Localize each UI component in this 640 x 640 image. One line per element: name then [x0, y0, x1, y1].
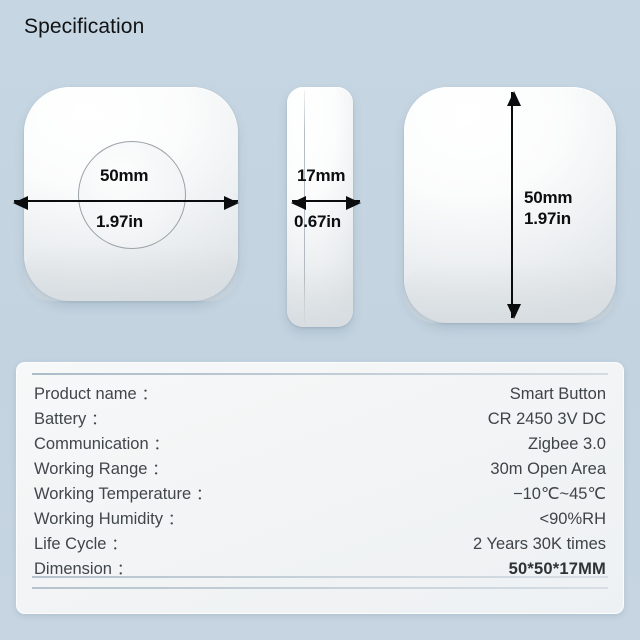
spec-key-working-temperature: Working Temperature：	[34, 482, 211, 507]
front-view-width-arrow	[14, 200, 238, 202]
spec-row-working-range: Working Range： 30m Open Area	[32, 457, 608, 482]
front-button-circle-outline	[78, 141, 186, 249]
spec-row-working-temperature: Working Temperature： −10℃~45℃	[32, 482, 608, 507]
spec-colon: ：	[147, 461, 167, 478]
spec-key-product-name: Product name：	[34, 382, 157, 407]
spec-key-working-range: Working Range：	[34, 457, 167, 482]
spec-row-life-cycle: Life Cycle： 2 Years 30K times	[32, 532, 608, 557]
spec-divider-bottom-1	[32, 576, 608, 578]
product-specification-page: Specification 50mm 1.97in 17mm 0.67in 50…	[0, 0, 640, 640]
spec-table: Product name： Smart Button Battery： CR 2…	[32, 382, 608, 582]
spec-value-working-range: 30m Open Area	[490, 457, 606, 482]
front-view-dimension-mm: 50mm	[100, 166, 148, 186]
spec-colon: ：	[137, 386, 157, 403]
spec-colon: ：	[163, 511, 183, 528]
spec-colon: ：	[86, 411, 106, 428]
spec-value-life-cycle: 2 Years 30K times	[473, 532, 606, 557]
spec-row-working-humidity: Working Humidity： <90%RH	[32, 507, 608, 532]
side-view-dimension-mm: 17mm	[297, 166, 345, 186]
back-view-dimension-in: 1.97in	[524, 209, 571, 229]
spec-colon: ：	[106, 536, 126, 553]
side-view-dimension-in: 0.67in	[294, 212, 341, 232]
spec-colon: ：	[149, 436, 169, 453]
spec-key-communication: Communication：	[34, 432, 169, 457]
spec-key-working-humidity: Working Humidity：	[34, 507, 183, 532]
spec-divider-top	[32, 373, 608, 375]
spec-row-product-name: Product name： Smart Button	[32, 382, 608, 407]
specification-card: Product name： Smart Button Battery： CR 2…	[16, 362, 624, 614]
spec-row-communication: Communication： Zigbee 3.0	[32, 432, 608, 457]
spec-key-battery: Battery：	[34, 407, 106, 432]
spec-value-dimension: 50*50*17MM	[509, 557, 606, 582]
spec-key-life-cycle: Life Cycle：	[34, 532, 126, 557]
product-views: 50mm 1.97in 17mm 0.67in 50mm 1.97in	[0, 78, 640, 340]
back-view-height-arrow	[511, 92, 513, 318]
spec-value-working-temperature: −10℃~45℃	[513, 482, 606, 507]
back-view-dimension-mm: 50mm	[524, 188, 572, 208]
device-back-view	[404, 87, 616, 323]
page-title: Specification	[24, 15, 144, 39]
spec-key-dimension: Dimension：	[34, 557, 132, 582]
spec-row-battery: Battery： CR 2450 3V DC	[32, 407, 608, 432]
spec-value-product-name: Smart Button	[510, 382, 606, 407]
spec-colon: ：	[191, 486, 211, 503]
spec-value-battery: CR 2450 3V DC	[488, 407, 606, 432]
side-view-thickness-arrow	[292, 200, 360, 202]
spec-value-communication: Zigbee 3.0	[528, 432, 606, 457]
front-view-dimension-in: 1.97in	[96, 212, 143, 232]
spec-row-dimension: Dimension： 50*50*17MM	[32, 557, 608, 582]
spec-value-working-humidity: <90%RH	[540, 507, 607, 532]
spec-divider-bottom-2	[32, 587, 608, 589]
device-front-view	[24, 87, 238, 301]
